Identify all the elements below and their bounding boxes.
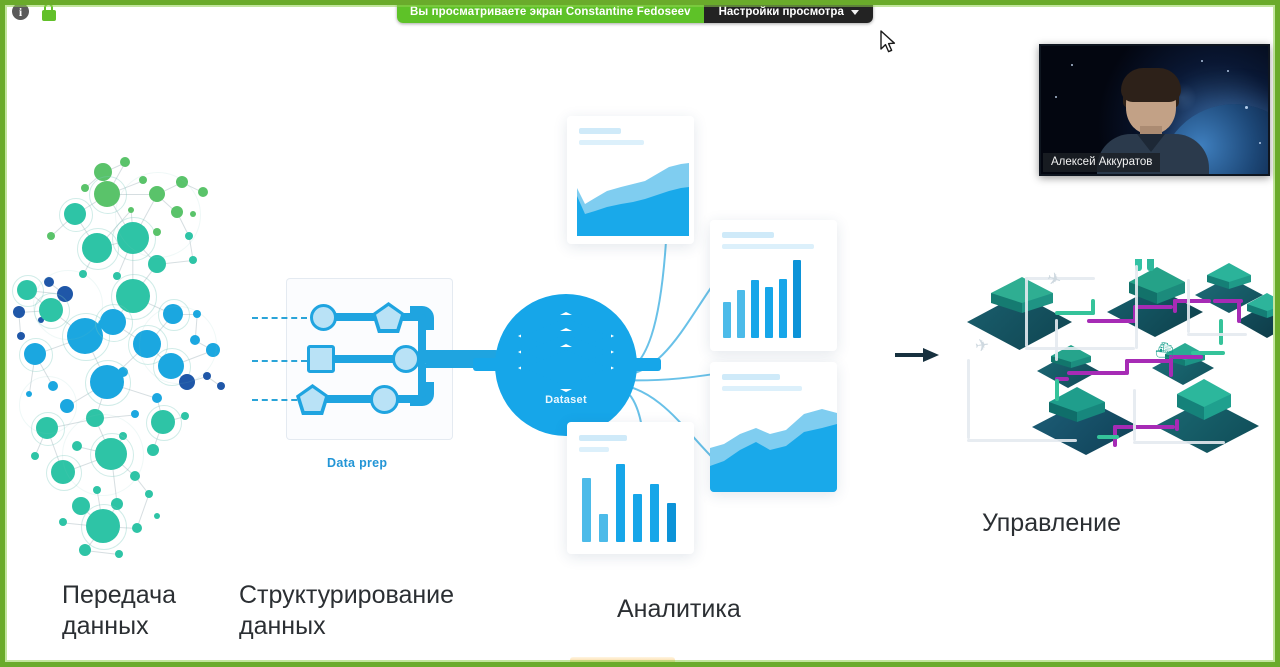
iso-route-green xyxy=(1055,311,1095,315)
right-arrow-icon xyxy=(895,348,941,362)
graph-node xyxy=(131,410,139,418)
iso-route-line xyxy=(1187,279,1190,333)
bar-chart-bars xyxy=(582,464,676,542)
graph-node xyxy=(147,444,159,456)
graph-node xyxy=(100,309,126,335)
data-prep-diagram: Data prep xyxy=(252,264,502,504)
screenshare-status-label: Вы просматриваете экран Constantine Fedo… xyxy=(397,0,704,23)
card-title-bar xyxy=(579,435,627,441)
graph-node xyxy=(132,523,142,533)
graph-node xyxy=(145,490,153,498)
graph-node xyxy=(90,365,124,399)
card-subtitle-bar xyxy=(579,140,644,145)
graph-node xyxy=(81,184,89,192)
graph-node xyxy=(152,393,162,403)
card-subtitle-bar xyxy=(722,386,802,391)
iso-route-line xyxy=(1133,389,1136,441)
iso-route-line xyxy=(967,359,970,439)
graph-node xyxy=(17,332,25,340)
graph-node xyxy=(189,256,197,264)
graph-node xyxy=(24,343,46,365)
dashboard-card-bar-right xyxy=(710,220,837,351)
graph-ring xyxy=(115,172,201,258)
iso-route-magenta xyxy=(1213,299,1243,303)
graph-node xyxy=(154,513,160,519)
card-title-bar xyxy=(722,232,774,238)
dashboard-card-area-top xyxy=(567,116,694,244)
node-square xyxy=(307,345,335,373)
graph-node xyxy=(13,306,25,318)
caption-analytics: Аналитика xyxy=(617,594,847,625)
iso-route-green xyxy=(1091,299,1095,315)
graph-node xyxy=(120,157,130,167)
area-chart-svg xyxy=(710,404,837,492)
graph-node xyxy=(86,509,120,543)
node-circle xyxy=(392,345,420,373)
bottom-taskbar-sliver xyxy=(570,657,675,667)
graph-ring xyxy=(139,306,217,384)
node-circle xyxy=(370,385,399,414)
iso-route-magenta xyxy=(1067,371,1127,375)
iso-route-magenta xyxy=(1113,425,1175,429)
graph-node xyxy=(151,410,175,434)
graph-node xyxy=(79,544,91,556)
iso-route-magenta xyxy=(1173,299,1211,303)
dataset-hub: Dataset xyxy=(495,294,637,436)
airplane-icon: ✈ xyxy=(1045,269,1064,290)
caption-data-structuring: Структурирование данных xyxy=(239,580,529,642)
graph-ring xyxy=(19,376,77,434)
card-subtitle-bar xyxy=(722,244,814,249)
dashboard-card-area-bottom xyxy=(710,362,837,492)
iso-chimney xyxy=(1147,259,1154,271)
dashed-input-line xyxy=(252,317,307,319)
hub-circle: Dataset xyxy=(495,294,637,436)
iso-route-green xyxy=(1219,319,1223,345)
bar-chart-bars xyxy=(723,260,801,338)
iso-route-line xyxy=(1133,441,1225,444)
graph-node xyxy=(64,203,86,225)
iso-route-magenta xyxy=(1237,301,1241,323)
iso-route-magenta xyxy=(1175,419,1179,431)
graph-node xyxy=(82,233,112,263)
graph-node xyxy=(115,550,123,558)
dashed-input-line xyxy=(252,360,307,362)
iso-route-green xyxy=(1055,379,1059,401)
caption-management: Управление xyxy=(982,508,1222,539)
mouse-pointer-icon xyxy=(879,30,897,56)
node-circle xyxy=(310,304,337,331)
iso-route-magenta xyxy=(1133,305,1173,309)
card-title-bar xyxy=(579,128,621,134)
pipe-corner xyxy=(410,382,434,406)
card-title-bar xyxy=(722,374,780,380)
iso-route-line xyxy=(1187,333,1247,336)
dataset-label: Dataset xyxy=(495,394,637,406)
graph-node xyxy=(47,232,55,240)
graph-node xyxy=(31,452,39,460)
lock-icon[interactable] xyxy=(40,3,58,21)
iso-route-magenta xyxy=(1125,359,1173,363)
airplane-icon: ✈ xyxy=(974,336,990,355)
iso-route-green xyxy=(1097,435,1119,439)
graph-node xyxy=(217,382,225,390)
iso-route-line xyxy=(1025,347,1135,350)
view-options-label: Настройки просмотра xyxy=(719,6,844,18)
iso-route-line xyxy=(967,439,1077,442)
participant-name-label: Алексей Аккуратов xyxy=(1043,153,1160,172)
area-chart-svg xyxy=(577,158,689,236)
hub-stem-right xyxy=(633,358,661,371)
iso-route-magenta xyxy=(1169,355,1203,359)
screenshare-banner: Вы просматриваете экран Constantine Fedo… xyxy=(397,0,873,23)
iso-route-green xyxy=(1191,351,1225,355)
graph-node xyxy=(59,518,67,526)
graph-node xyxy=(181,412,189,420)
dashboard-card-bar-bottom xyxy=(567,422,694,554)
graph-ring xyxy=(62,414,144,496)
data-prep-label: Data prep xyxy=(327,456,387,470)
info-icon[interactable]: i xyxy=(12,3,30,21)
graph-node xyxy=(198,187,208,197)
caption-data-transfer: Передача данных xyxy=(62,580,237,642)
graph-ring xyxy=(33,270,103,340)
chevron-down-icon xyxy=(851,10,859,15)
network-graph-illustration xyxy=(7,154,267,584)
view-options-button[interactable]: Настройки просмотра xyxy=(704,0,873,23)
iso-route-magenta xyxy=(1087,319,1135,323)
ship-icon: ⛴ xyxy=(1155,343,1174,358)
zoom-screenshare-topbar: i Вы просматриваете экран Constantine Fe… xyxy=(0,0,1280,24)
supply-chain-illustration: ✈✈⛴ xyxy=(937,259,1273,504)
iso-route-line xyxy=(1135,265,1138,349)
self-view-video[interactable]: Алексей Аккуратов xyxy=(1039,44,1270,176)
card-subtitle-bar xyxy=(579,447,609,452)
iso-route-line xyxy=(1055,319,1058,361)
pipe-corner xyxy=(410,306,434,330)
iso-route-line xyxy=(1025,277,1028,347)
